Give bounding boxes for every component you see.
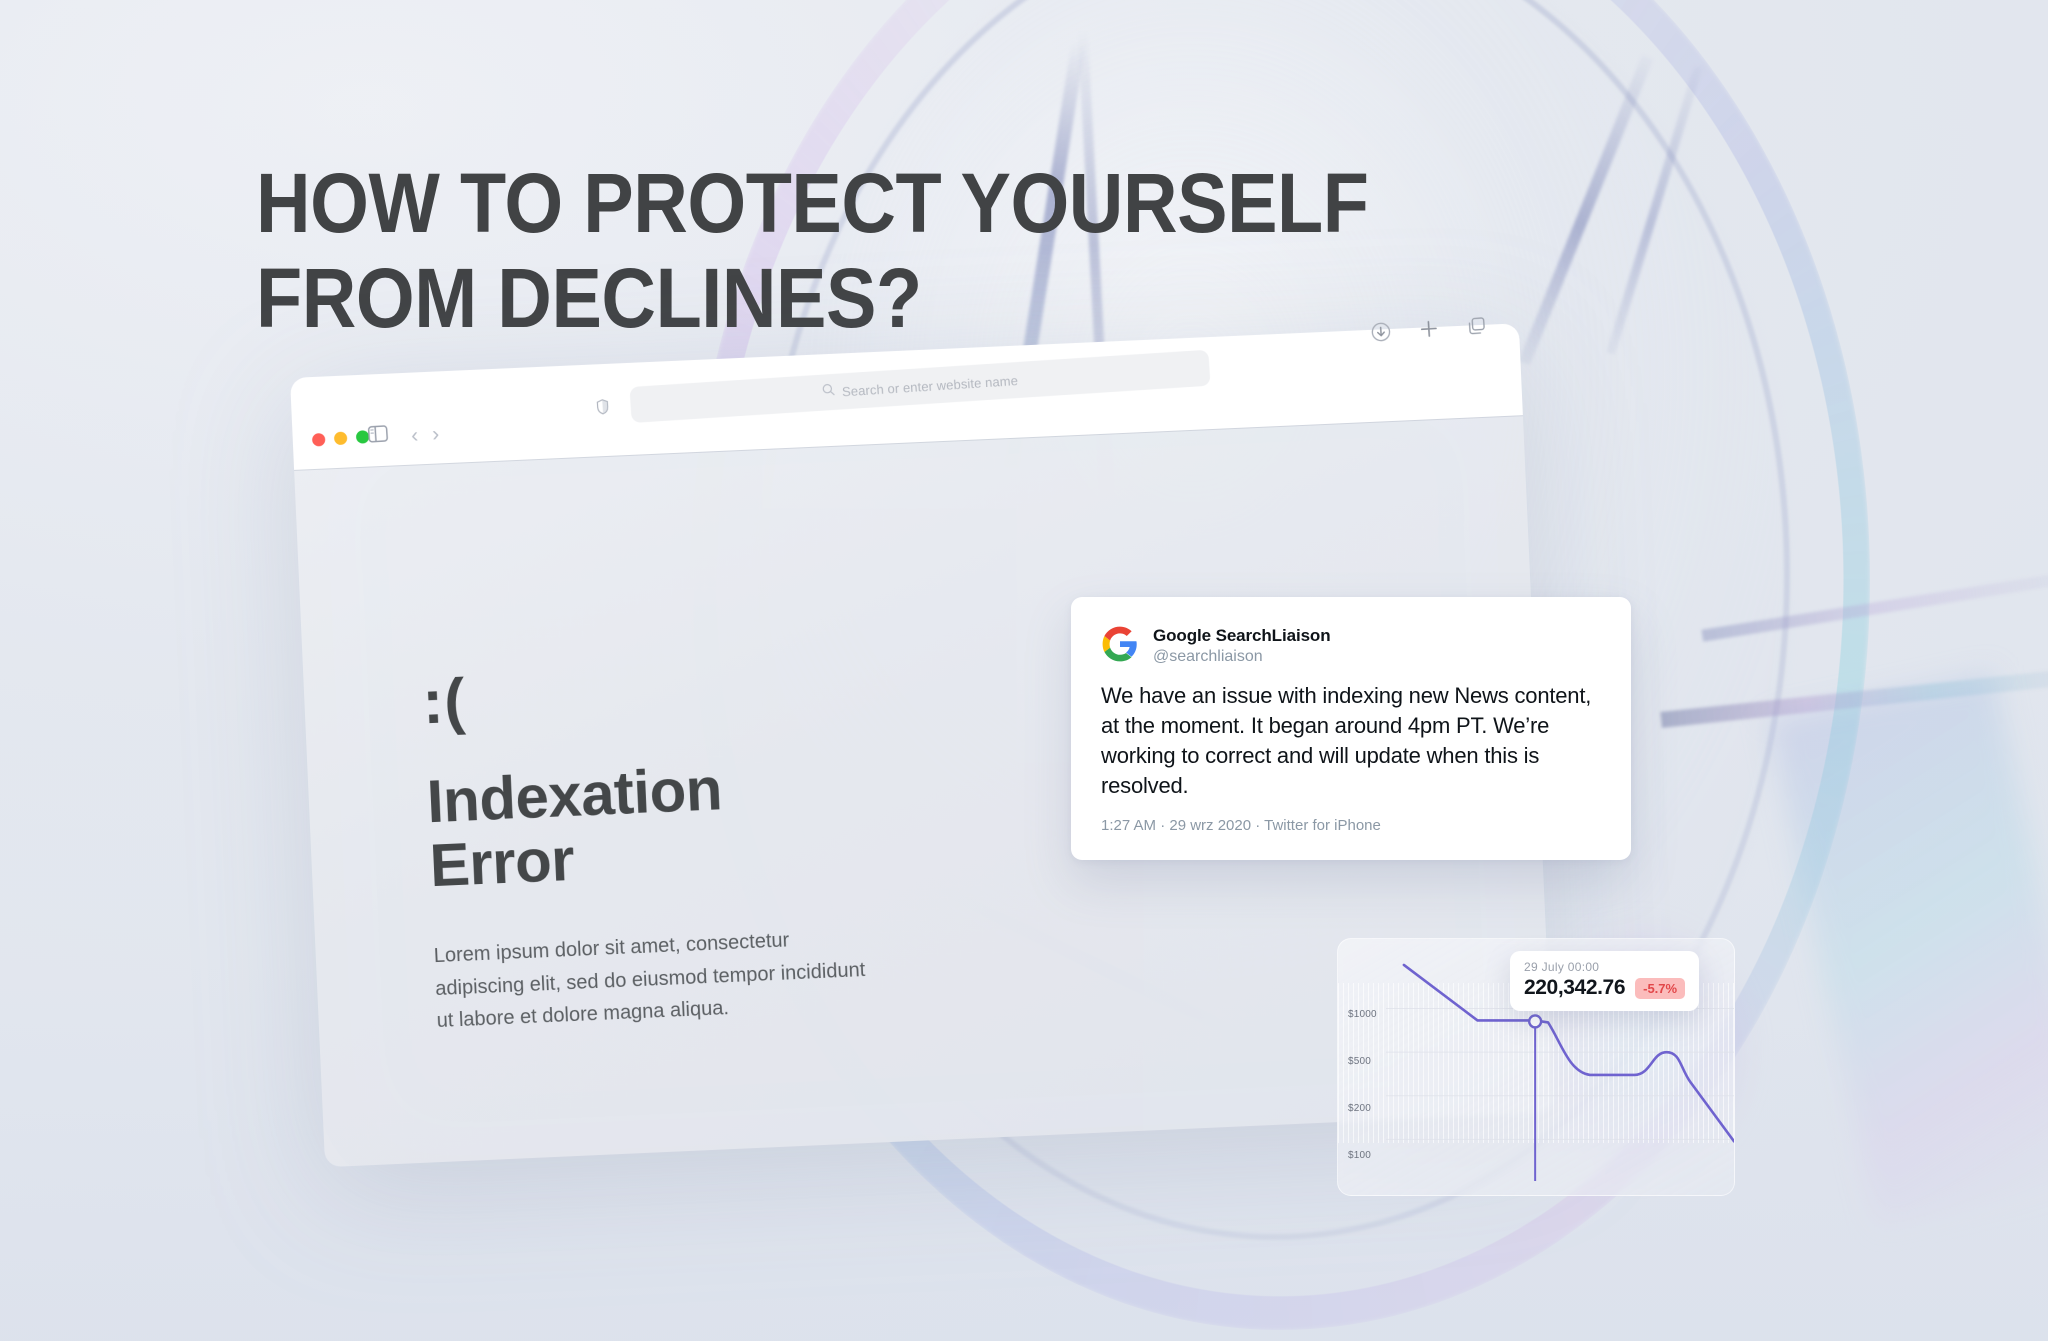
address-bar-placeholder: Search or enter website name bbox=[842, 373, 1019, 399]
error-description: Lorem ipsum dolor sit amet, consectetur … bbox=[433, 921, 877, 1038]
minimize-button[interactable] bbox=[334, 431, 348, 445]
sad-face-emoticon: :( bbox=[421, 644, 1063, 734]
y-tick-label: $500 bbox=[1348, 1056, 1377, 1067]
error-title: Indexation Error bbox=[426, 742, 1071, 899]
tab-overview-icon[interactable] bbox=[1466, 315, 1489, 342]
new-tab-icon[interactable] bbox=[1418, 318, 1441, 345]
tweet-meta: 1:27 AM · 29 wrz 2020 · Twitter for iPho… bbox=[1101, 817, 1601, 834]
tooltip-change-badge: -5.7% bbox=[1635, 978, 1685, 999]
forward-icon[interactable]: › bbox=[431, 423, 439, 444]
y-tick-label: $100 bbox=[1348, 1150, 1377, 1161]
window-controls[interactable] bbox=[312, 430, 370, 447]
tooltip-date: 29 July 00:00 bbox=[1524, 960, 1685, 974]
back-icon[interactable]: ‹ bbox=[410, 425, 418, 446]
chart-marker-point bbox=[1529, 1015, 1541, 1027]
tooltip-value: 220,342.76 bbox=[1524, 976, 1625, 1000]
tweet-display-name: Google SearchLiaison bbox=[1153, 626, 1331, 646]
error-page: :( Indexation Error Lorem ipsum dolor si… bbox=[421, 644, 1077, 1038]
y-tick-label: $200 bbox=[1348, 1103, 1377, 1114]
close-button[interactable] bbox=[312, 433, 326, 447]
tweet-body: We have an issue with indexing new News … bbox=[1101, 681, 1601, 801]
shield-icon[interactable] bbox=[596, 398, 609, 420]
tweet-card[interactable]: Google SearchLiaison @searchliaison We h… bbox=[1071, 597, 1631, 860]
address-bar[interactable]: Search or enter website name bbox=[629, 350, 1210, 423]
tweet-author: Google SearchLiaison @searchliaison bbox=[1153, 625, 1331, 666]
chart-y-axis: $1000 $500 $200 $100 bbox=[1348, 1009, 1377, 1161]
toolbar-actions bbox=[1370, 315, 1488, 348]
chart-tooltip: 29 July 00:00 220,342.76 -5.7% bbox=[1510, 951, 1699, 1011]
tweet-handle: @searchliaison bbox=[1153, 648, 1331, 666]
navigation-buttons[interactable]: ‹ › bbox=[410, 423, 439, 446]
sidebar-icon[interactable] bbox=[367, 425, 388, 448]
tweet-header: Google SearchLiaison @searchliaison bbox=[1101, 625, 1601, 666]
y-tick-label: $1000 bbox=[1348, 1009, 1377, 1020]
search-icon bbox=[822, 383, 836, 402]
downloads-icon[interactable] bbox=[1370, 321, 1393, 348]
google-logo-icon bbox=[1101, 625, 1139, 663]
